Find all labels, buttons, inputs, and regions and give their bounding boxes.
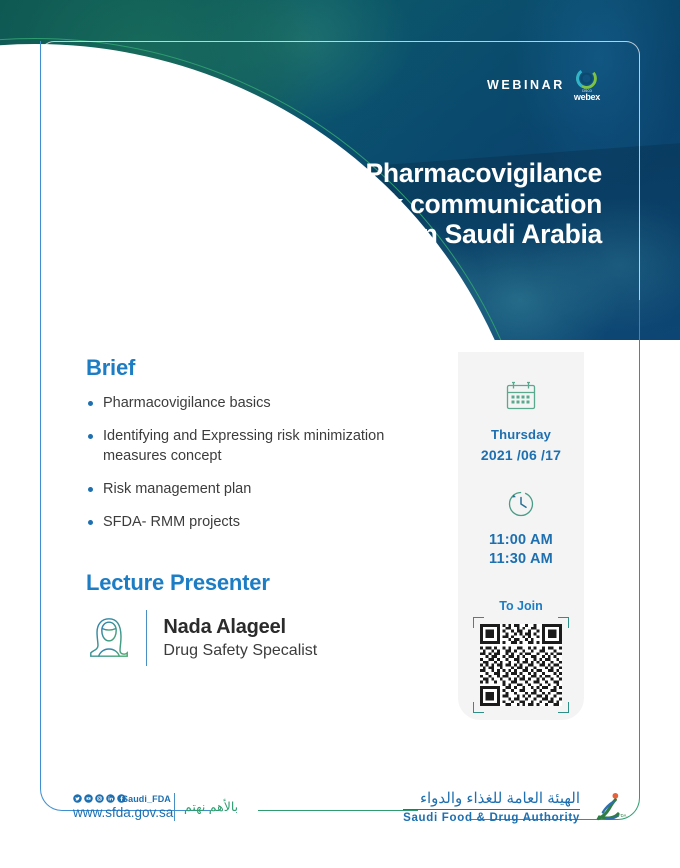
footer-tagline: بالأهم نهتم: [184, 799, 238, 814]
brief-heading: Brief: [86, 355, 446, 381]
scan-bracket-icon: [558, 617, 569, 628]
footer: Saudi_FDA www.sfda.gov.sa بالأهم نهتم ال…: [0, 794, 680, 840]
event-time-start: 11:00 AM: [458, 532, 584, 548]
join-label: To Join: [458, 599, 584, 613]
scan-bracket-icon: [473, 617, 484, 628]
webinar-label: WEBINAR: [487, 78, 565, 92]
list-item: Pharmacovigilance basics: [86, 394, 446, 413]
lecture-label: Lecture: [72, 62, 168, 93]
presenter-heading: Lecture Presenter: [86, 570, 446, 596]
presenter-role: Drug Safety Specalist: [163, 642, 317, 660]
qr-code-block[interactable]: [480, 624, 562, 706]
presenter-name: Nada Alageel: [163, 616, 317, 639]
event-date: 2021 /06 /17: [458, 447, 584, 463]
youtube-icon[interactable]: [84, 794, 93, 803]
event-info-panel: Thursday 2021 /06 /17 11:00 AM 11:30 AM …: [458, 352, 584, 720]
page-title: Pharmacovigilance and risk communication…: [182, 158, 602, 250]
avatar-hijab-icon: [86, 615, 132, 661]
instagram-icon[interactable]: [95, 794, 104, 803]
clock-icon: [506, 489, 536, 519]
brief-section: Brief Pharmacovigilance basics Identifyi…: [86, 355, 446, 546]
website-url[interactable]: www.sfda.gov.sa: [73, 805, 173, 820]
webinar-badge: WEBINAR cisco webex: [487, 68, 600, 102]
list-item: SFDA- RMM projects: [86, 513, 446, 532]
presenter-section: Lecture Presenter Nada Alageel Drug Safe…: [86, 570, 446, 666]
footer-divider: [174, 793, 175, 821]
event-time-end: 11:30 AM: [458, 551, 584, 567]
title-line-2: and risk communication: [182, 189, 602, 220]
presenter-row: Nada Alageel Drug Safety Specalist: [86, 610, 446, 666]
scan-bracket-icon: [473, 702, 484, 713]
authority-name-english: Saudi Food & Drug Authority: [403, 812, 580, 824]
hero-banner: Lecture WEBINAR cisco webex Pharmacovigi…: [0, 0, 680, 340]
event-day: Thursday: [458, 427, 584, 442]
footer-rule: [258, 810, 418, 811]
social-icons-group[interactable]: [73, 794, 126, 803]
sfda-logo: الهيئة العامة للغذاء والدواء Saudi Food …: [403, 790, 632, 824]
webex-ring-icon: [576, 68, 597, 89]
qr-code-icon[interactable]: [480, 624, 562, 706]
title-line-1: Pharmacovigilance: [182, 158, 602, 189]
linkedin-icon[interactable]: [106, 794, 115, 803]
social-handle[interactable]: Saudi_FDA: [122, 794, 171, 804]
list-item: Identifying and Expressing risk minimiza…: [86, 427, 446, 466]
scan-bracket-icon: [558, 702, 569, 713]
list-item: Risk management plan: [86, 480, 446, 499]
calendar-icon: [504, 380, 538, 412]
authority-name-arabic: الهيئة العامة للغذاء والدواء: [403, 790, 580, 807]
logo-rule: [403, 809, 580, 810]
webex-wordmark: webex: [574, 92, 600, 102]
title-line-3: in Saudi Arabia: [182, 219, 602, 250]
webex-logo: cisco webex: [574, 68, 600, 102]
brief-list: Pharmacovigilance basics Identifying and…: [86, 394, 446, 532]
sfda-emblem-icon: SFDA: [588, 790, 632, 824]
twitter-icon[interactable]: [73, 794, 82, 803]
svg-text:SFDA: SFDA: [615, 813, 626, 818]
presenter-divider: [146, 610, 147, 666]
